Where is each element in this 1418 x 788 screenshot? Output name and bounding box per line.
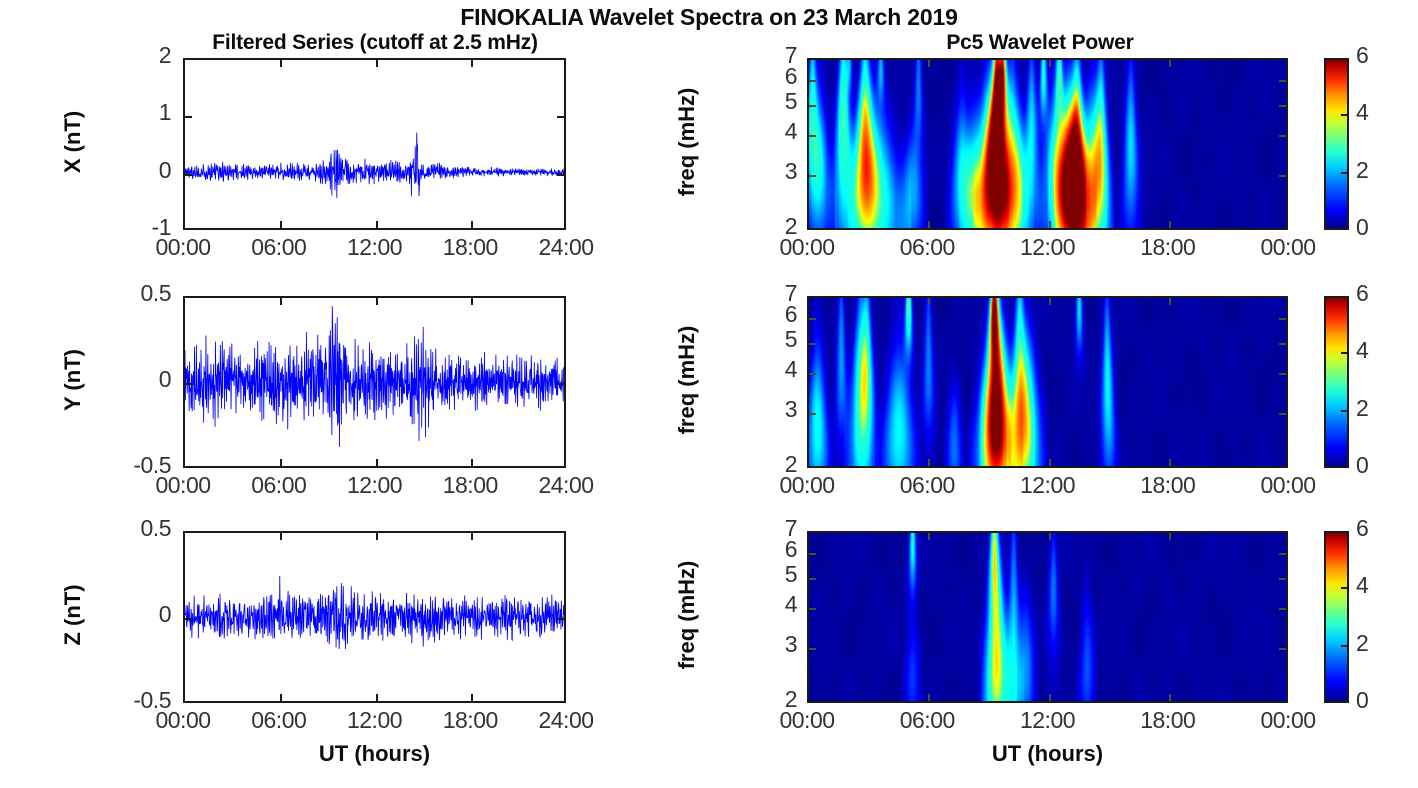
xtick-label: 06:00 [224,472,334,499]
xtick-mark [1049,60,1051,67]
xtick-label: 12:00 [320,472,430,499]
yaxis-title: X (nT) [60,67,86,217]
ytick-label: 0.5 [71,280,171,307]
ytick-mark [1279,648,1286,650]
colorbar-tick-label: 0 [1356,214,1369,241]
xtick-label: 06:00 [224,707,334,734]
yaxis-title: freq (mHz) [674,62,700,222]
ytick-label: 3 [697,396,797,423]
ytick-mark [809,413,816,415]
ytick-label: 6 [697,63,797,90]
ytick-mark [809,343,816,345]
colorbar-tick-label: 6 [1356,515,1369,542]
xtick-mark [1049,298,1051,305]
ytick-mark [1279,175,1286,177]
xtick-mark [1049,221,1051,228]
ytick-mark [809,553,816,555]
xtick-label: 00:00 [128,707,238,734]
xtick-label: 00:00 [128,234,238,261]
ytick-mark [557,618,564,620]
panel-X-wavelet-power [807,58,1288,230]
colorbar-tick [1341,352,1347,354]
ytick-mark [1279,135,1286,137]
xtick-label: 06:00 [872,472,982,499]
xtick-label: 06:00 [872,234,982,261]
xtick-label: 18:00 [415,472,525,499]
colorbar-tick-label: 6 [1356,280,1369,307]
colorbar-tick [1341,172,1347,174]
ytick-label: 1 [71,99,171,126]
ytick-mark [1279,373,1286,375]
xtick-label: 12:00 [320,707,430,734]
xtick-mark [928,298,930,305]
panel-Z-filtered-series [183,531,566,703]
wavelet-power-heatmap [809,533,1286,701]
right-column-title: Pc5 Wavelet Power [790,31,1290,55]
xtick-label: 18:00 [1113,472,1223,499]
ytick-mark [809,608,816,610]
colorbar-tick-label: 4 [1356,337,1369,364]
yaxis-title: Z (nT) [60,540,86,690]
yaxis-title: freq (mHz) [674,300,700,460]
left-column-title: Filtered Series (cutoff at 2.5 mHz) [150,31,600,55]
xtick-mark [376,694,378,701]
colorbar [1324,58,1349,230]
xtick-mark [376,459,378,466]
xtick-mark [471,694,473,701]
colorbar-tick [1341,410,1347,412]
wavelet-power-heatmap [809,60,1286,228]
timeseries-trace [185,60,564,228]
xtick-mark [1169,533,1171,540]
ytick-mark [557,116,564,118]
xtick-label: 18:00 [415,707,525,734]
ytick-mark [1279,105,1286,107]
ytick-mark [809,105,816,107]
ytick-mark [809,648,816,650]
xtick-label: 00:00 [1233,472,1343,499]
xaxis-title-left: UT (hours) [183,741,566,767]
xtick-label: 00:00 [752,707,862,734]
xtick-mark [376,60,378,67]
ytick-mark [557,174,564,176]
yaxis-title: Y (nT) [60,305,86,455]
ytick-mark [1279,413,1286,415]
xtick-mark [471,60,473,67]
ytick-label: 0 [71,366,171,393]
colorbar-tick-label: 2 [1356,630,1369,657]
xtick-mark [471,459,473,466]
panel-Y-filtered-series [183,296,566,468]
colorbar-tick-label: 6 [1356,42,1369,69]
colorbar [1324,296,1349,468]
xtick-label: 00:00 [128,472,238,499]
ytick-label: 4 [697,118,797,145]
xtick-mark [280,60,282,67]
xtick-label: 24:00 [511,234,621,261]
panel-X-filtered-series [183,58,566,230]
ytick-label: 4 [697,591,797,618]
xtick-mark [280,221,282,228]
xtick-mark [1049,533,1051,540]
xtick-mark [1049,459,1051,466]
ytick-label: 5 [697,88,797,115]
xtick-mark [280,298,282,305]
xtick-mark [280,694,282,701]
xtick-mark [1169,694,1171,701]
xtick-label: 06:00 [224,234,334,261]
ytick-mark [1279,578,1286,580]
ytick-label: 2 [71,42,171,69]
xtick-mark [928,221,930,228]
xtick-mark [471,221,473,228]
figure-suptitle: FINOKALIA Wavelet Spectra on 23 March 20… [0,4,1418,31]
ytick-label: 0 [71,157,171,184]
ytick-label: 5 [697,561,797,588]
xtick-mark [280,459,282,466]
ytick-label: 0.5 [71,515,171,542]
xtick-mark [1169,459,1171,466]
xtick-label: 00:00 [1233,707,1343,734]
ytick-mark [809,135,816,137]
colorbar-tick-label: 2 [1356,157,1369,184]
colorbar-tick-label: 2 [1356,395,1369,422]
timeseries-trace [185,298,564,466]
ytick-label: 6 [697,536,797,563]
xtick-label: 18:00 [415,234,525,261]
xtick-label: 12:00 [993,707,1103,734]
colorbar-tick-label: 0 [1356,687,1369,714]
ytick-label: 3 [697,631,797,658]
xtick-mark [928,694,930,701]
xtick-mark [928,533,930,540]
ytick-label: 3 [697,158,797,185]
xtick-label: 12:00 [993,472,1103,499]
wavelet-power-heatmap [809,298,1286,466]
ytick-mark [185,383,192,385]
colorbar [1324,531,1349,703]
xtick-label: 24:00 [511,707,621,734]
ytick-mark [809,318,816,320]
colorbar-tick-label: 4 [1356,572,1369,599]
ytick-mark [1279,318,1286,320]
ytick-mark [1279,608,1286,610]
figure-canvas: FINOKALIA Wavelet Spectra on 23 March 20… [0,0,1418,788]
panel-Z-wavelet-power [807,531,1288,703]
xtick-mark [928,60,930,67]
xtick-label: 12:00 [320,234,430,261]
xtick-label: 18:00 [1113,707,1223,734]
xtick-label: 12:00 [993,234,1103,261]
colorbar-tick-label: 4 [1356,99,1369,126]
ytick-mark [809,175,816,177]
xtick-mark [928,459,930,466]
ytick-mark [809,80,816,82]
colorbar-tick [1341,114,1347,116]
colorbar-tick [1341,645,1347,647]
ytick-mark [1279,343,1286,345]
xtick-mark [1169,221,1171,228]
xtick-mark [471,533,473,540]
xtick-label: 00:00 [1233,234,1343,261]
yaxis-title: freq (mHz) [674,535,700,695]
xtick-mark [1169,60,1171,67]
ytick-mark [185,116,192,118]
xtick-label: 00:00 [752,234,862,261]
ytick-mark [809,373,816,375]
xtick-label: 06:00 [872,707,982,734]
ytick-label: 5 [697,326,797,353]
ytick-mark [557,383,564,385]
xtick-label: 24:00 [511,472,621,499]
ytick-mark [185,618,192,620]
xtick-mark [376,221,378,228]
xtick-mark [1169,298,1171,305]
xtick-mark [280,533,282,540]
xtick-label: 18:00 [1113,234,1223,261]
colorbar-tick [1341,587,1347,589]
colorbar-tick-label: 0 [1356,452,1369,479]
ytick-label: 6 [697,301,797,328]
xtick-mark [376,298,378,305]
xtick-mark [1049,694,1051,701]
xaxis-title-right: UT (hours) [807,741,1288,767]
ytick-mark [185,174,192,176]
ytick-mark [1279,553,1286,555]
panel-Y-wavelet-power [807,296,1288,468]
ytick-mark [809,578,816,580]
xtick-label: 00:00 [752,472,862,499]
xtick-mark [471,298,473,305]
ytick-label: 0 [71,601,171,628]
xtick-mark [376,533,378,540]
timeseries-trace [185,533,564,701]
ytick-mark [1279,80,1286,82]
ytick-label: 4 [697,356,797,383]
